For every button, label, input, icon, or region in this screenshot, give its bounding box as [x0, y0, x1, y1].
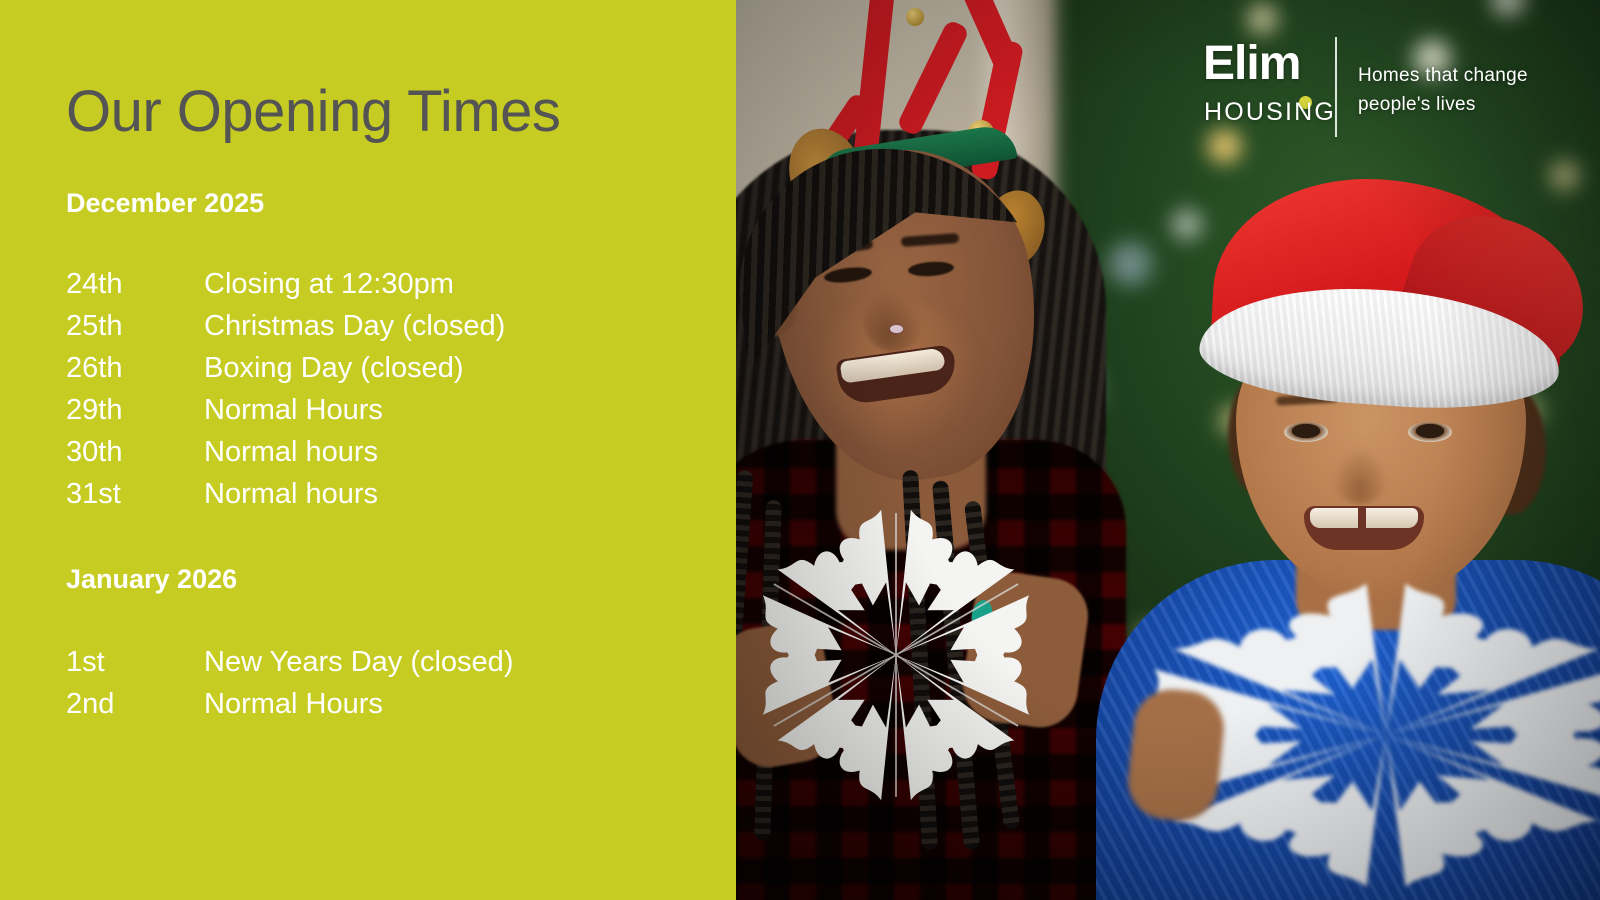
logo-sub-name: HOUSING — [1204, 100, 1336, 125]
woman-nose-stud — [890, 325, 903, 333]
schedule-note: Normal hours — [204, 436, 378, 469]
logo-divider — [1335, 37, 1337, 137]
logo-tagline-line1: Homes that change — [1358, 61, 1528, 90]
schedule-row: 26th Boxing Day (closed) — [66, 352, 505, 394]
month-heading-december: December 2025 — [66, 188, 264, 219]
schedule-list-december: 24th Closing at 12:30pm 25th Christmas D… — [66, 268, 505, 520]
schedule-day: 26th — [66, 352, 204, 385]
schedule-note: Closing at 12:30pm — [204, 268, 454, 301]
schedule-note: Normal hours — [204, 478, 378, 511]
month-heading-january: January 2026 — [66, 564, 237, 595]
reindeer-antler-mid — [896, 19, 970, 137]
schedule-day: 24th — [66, 268, 204, 301]
child-nose — [1332, 448, 1388, 504]
info-panel: Our Opening Times December 2025 24th Clo… — [0, 0, 736, 900]
child-smile — [1304, 506, 1424, 550]
child-eye-left — [1284, 422, 1328, 442]
schedule-note: New Years Day (closed) — [204, 646, 513, 679]
paper-snowflake-white — [736, 490, 1061, 820]
schedule-day: 29th — [66, 394, 204, 427]
schedule-row: 29th Normal Hours — [66, 394, 505, 436]
schedule-note: Boxing Day (closed) — [204, 352, 464, 385]
schedule-day: 25th — [66, 310, 204, 343]
schedule-day: 2nd — [66, 688, 204, 721]
schedule-day: 1st — [66, 646, 204, 679]
logo-brand-name: Elim — [1203, 40, 1300, 88]
schedule-row: 2nd Normal Hours — [66, 688, 513, 730]
page-title: Our Opening Times — [66, 82, 560, 143]
schedule-list-january: 1st New Years Day (closed) 2nd Normal Ho… — [66, 646, 513, 730]
elim-housing-logo: Elim HOUSING Homes that change people's … — [1203, 40, 1553, 140]
opening-times-poster: Our Opening Times December 2025 24th Clo… — [0, 0, 1600, 900]
schedule-note: Christmas Day (closed) — [204, 310, 505, 343]
schedule-row: 24th Closing at 12:30pm — [66, 268, 505, 310]
schedule-row: 25th Christmas Day (closed) — [66, 310, 505, 352]
logo-tagline: Homes that change people's lives — [1358, 61, 1528, 120]
schedule-note: Normal Hours — [204, 688, 383, 721]
schedule-row: 30th Normal hours — [66, 436, 505, 478]
logo-tagline-line2: people's lives — [1358, 90, 1528, 119]
schedule-day: 31st — [66, 478, 204, 511]
antler-bell — [906, 8, 924, 26]
child-eye-right — [1408, 422, 1452, 442]
schedule-row: 31st Normal hours — [66, 478, 505, 520]
schedule-row: 1st New Years Day (closed) — [66, 646, 513, 688]
schedule-note: Normal Hours — [204, 394, 383, 427]
child-tooth-gap — [1358, 508, 1366, 528]
schedule-day: 30th — [66, 436, 204, 469]
